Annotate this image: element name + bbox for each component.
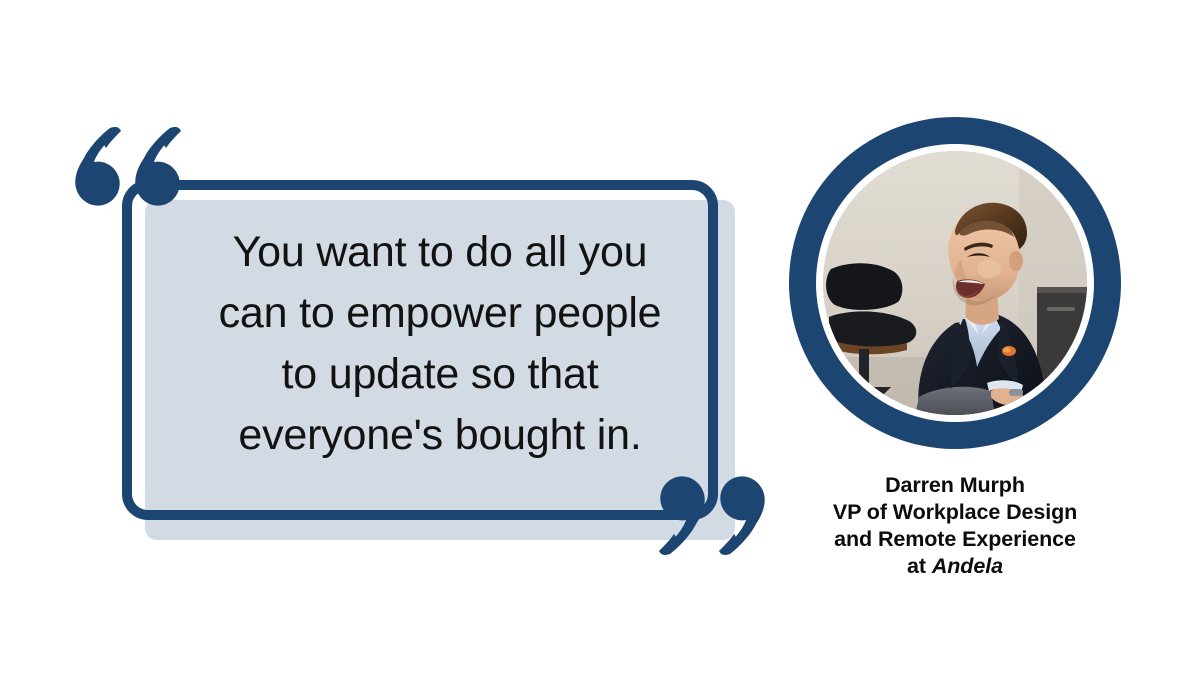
attribution-company-prefix: at: [907, 554, 932, 578]
portrait: [789, 117, 1121, 449]
quote-line-2: can to empower people: [150, 283, 730, 344]
quote-graphic-canvas: You want to do all you can to empower pe…: [0, 0, 1200, 700]
attribution-title-line-2: and Remote Experience: [795, 526, 1115, 553]
quote-line-1: You want to do all you: [150, 222, 730, 283]
quote-line-3: to update so that: [150, 344, 730, 405]
quote-line-4: everyone's bought in.: [150, 405, 730, 466]
quote-card: You want to do all you can to empower pe…: [0, 0, 790, 620]
attribution-name: Darren Murph: [795, 472, 1115, 499]
close-quote-icon: [650, 472, 774, 558]
attribution-company-line: at Andela: [795, 553, 1115, 580]
open-quote-icon: [66, 124, 190, 208]
attribution-block: Darren Murph VP of Workplace Design and …: [795, 472, 1115, 580]
quote-text: You want to do all you can to empower pe…: [150, 222, 730, 466]
attribution-title-line-1: VP of Workplace Design: [795, 499, 1115, 526]
attribution-company-name: Andela: [932, 554, 1003, 578]
portrait-photo: [823, 151, 1087, 415]
